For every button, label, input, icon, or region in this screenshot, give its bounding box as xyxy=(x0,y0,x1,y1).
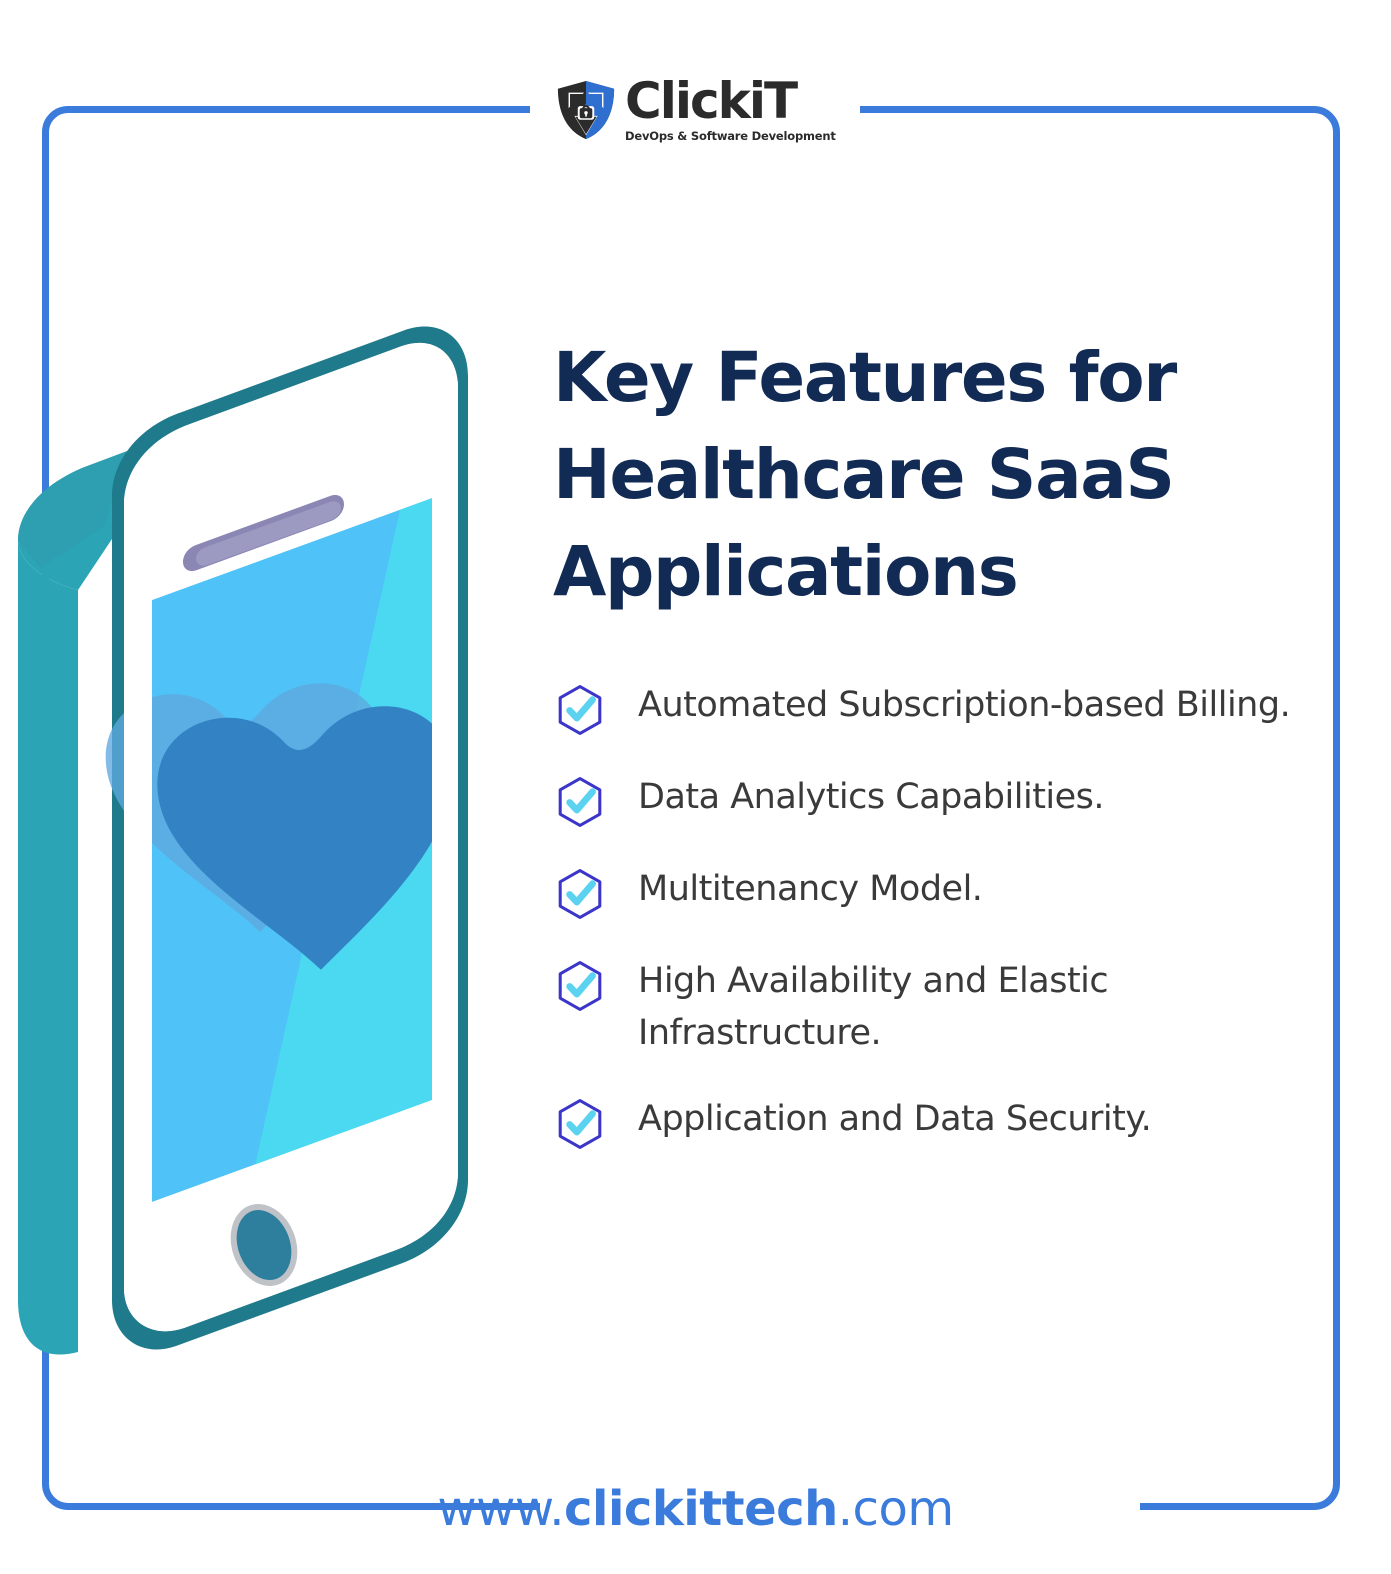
phone-side-face xyxy=(18,540,78,1355)
list-item-label: High Availability and Elastic Infrastruc… xyxy=(638,955,1313,1059)
shield-lock-arrows-icon xyxy=(555,79,617,141)
list-item-label: Automated Subscription-based Billing. xyxy=(638,679,1290,731)
list-item: Automated Subscription-based Billing. xyxy=(553,679,1313,737)
phone-illustration xyxy=(0,300,500,1380)
list-item: Data Analytics Capabilities. xyxy=(553,771,1313,829)
list-item-label: Multitenancy Model. xyxy=(638,863,982,915)
brand-logo[interactable]: ClickiT DevOps & Software Development xyxy=(555,74,840,166)
check-hexagon-icon xyxy=(553,683,607,737)
isometric-smartphone-svg xyxy=(0,300,500,1380)
page-title-line-3: Applications xyxy=(553,532,1017,612)
list-item: Application and Data Security. xyxy=(553,1093,1313,1151)
url-prefix: www. xyxy=(437,1481,564,1537)
logo-wordmark-group: ClickiT DevOps & Software Development xyxy=(625,76,836,143)
check-hexagon-icon xyxy=(553,959,607,1013)
logo-wordmark: ClickiT xyxy=(625,76,796,126)
logo-tagline: DevOps & Software Development xyxy=(625,129,836,143)
logo-wordmark-text: ClickiT xyxy=(625,72,796,130)
check-hexagon-icon xyxy=(553,867,607,921)
url-brand: clickittech xyxy=(564,1481,838,1537)
main-content: Key Features for Healthcare SaaS Applica… xyxy=(553,330,1313,1151)
list-item: Multitenancy Model. xyxy=(553,863,1313,921)
list-item: High Availability and Elastic Infrastruc… xyxy=(553,955,1313,1059)
list-item-label: Application and Data Security. xyxy=(638,1093,1151,1145)
url-suffix: .com xyxy=(838,1481,954,1537)
footer-website-url[interactable]: www.clickittech.com xyxy=(0,1478,1391,1540)
page-title-line-2: Healthcare SaaS xyxy=(553,435,1174,515)
page-title-line-1: Key Features for xyxy=(553,338,1176,418)
feature-list: Automated Subscription-based Billing. Da… xyxy=(553,679,1313,1151)
check-hexagon-icon xyxy=(553,775,607,829)
page-title: Key Features for Healthcare SaaS Applica… xyxy=(553,330,1313,621)
check-hexagon-icon xyxy=(553,1097,607,1151)
list-item-label: Data Analytics Capabilities. xyxy=(638,771,1104,823)
